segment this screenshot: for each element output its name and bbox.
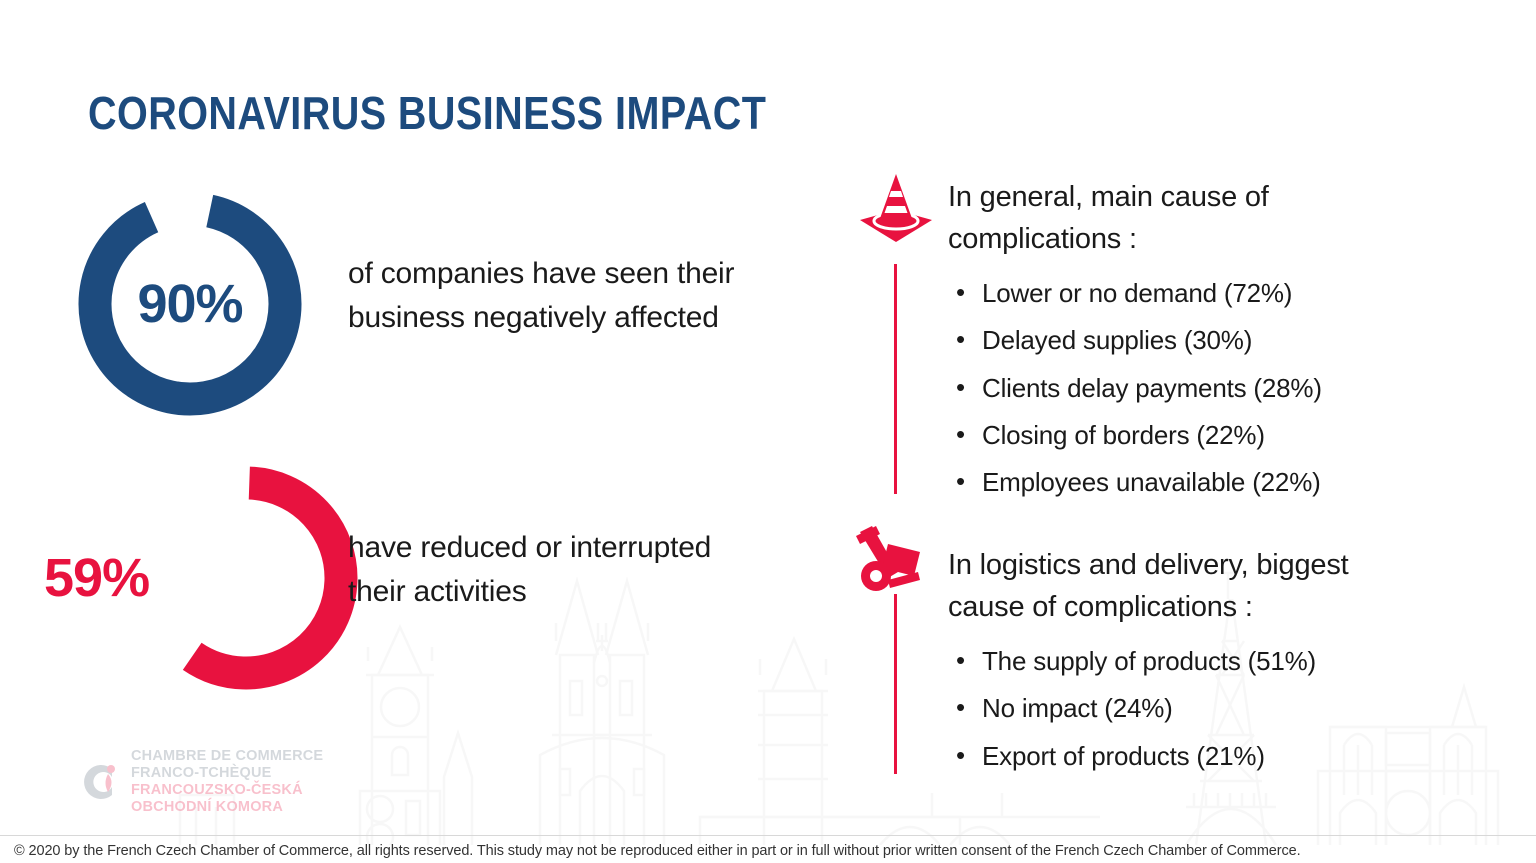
- chamber-logo: CHAMBRE DE COMMERCE FRANCO-TCHÈQUE FRANC…: [78, 748, 323, 816]
- list-item: The supply of products (51%): [952, 644, 1492, 678]
- section-logistics-heading-line1: In logistics and delivery, biggest: [948, 544, 1508, 586]
- list-item: Delayed supplies (30%): [952, 323, 1492, 357]
- hand-truck-icon: [852, 522, 932, 602]
- logo-mark-icon: [78, 760, 122, 804]
- logo-line-4: OBCHODNÍ KOMORA: [131, 799, 323, 816]
- page-title: CORONAVIRUS BUSINESS IMPACT: [88, 86, 766, 140]
- footer-divider: [0, 835, 1536, 836]
- stat-block-90: 90% of companies have seen their busines…: [72, 186, 812, 436]
- infographic-slide: CORONAVIRUS BUSINESS IMPACT 90% of compa…: [0, 0, 1536, 863]
- section-logistics-vertical-rule: [894, 594, 897, 774]
- donut-chart-59: 59%: [128, 460, 364, 696]
- donut-59-value: 59%: [36, 460, 272, 696]
- section-general-heading: In general, main cause of complications …: [948, 176, 1468, 260]
- stat-90-line1: of companies have seen their: [348, 252, 818, 296]
- logo-line-3: FRANCOUZSKO-ČESKÁ: [131, 782, 323, 799]
- section-general-causes: In general, main cause of complications …: [856, 168, 1506, 508]
- stat-90-line2: business negatively affected: [348, 296, 818, 340]
- list-item: Employees unavailable (22%): [952, 465, 1492, 499]
- donut-chart-90: 90%: [72, 186, 308, 422]
- stat-block-59: 59% have reduced or interrupted their ac…: [128, 460, 828, 710]
- stat-59-line1: have reduced or interrupted: [348, 526, 818, 570]
- list-item: Clients delay payments (28%): [952, 371, 1492, 405]
- section-logistics-heading: In logistics and delivery, biggest cause…: [948, 544, 1508, 628]
- stat-59-line2: their activities: [348, 570, 818, 614]
- section-logistics-heading-line2: cause of complications :: [948, 586, 1508, 628]
- logo-line-1: CHAMBRE DE COMMERCE: [131, 748, 323, 765]
- logo-line-2: FRANCO-TCHÈQUE: [131, 765, 323, 782]
- logo-text: CHAMBRE DE COMMERCE FRANCO-TCHÈQUE FRANC…: [131, 748, 323, 816]
- section-general-heading-line2: complications :: [948, 218, 1468, 260]
- section-general-list: Lower or no demand (72%) Delayed supplie…: [952, 276, 1492, 513]
- traffic-cone-icon: [856, 168, 936, 248]
- section-general-vertical-rule: [894, 264, 897, 494]
- list-item: Closing of borders (22%): [952, 418, 1492, 452]
- section-logistics-list: The supply of products (51%) No impact (…: [952, 644, 1492, 786]
- stat-90-description: of companies have seen their business ne…: [348, 252, 818, 341]
- footer-copyright: © 2020 by the French Czech Chamber of Co…: [14, 843, 1524, 859]
- list-item: Export of products (21%): [952, 739, 1492, 773]
- stat-59-description: have reduced or interrupted their activi…: [348, 526, 818, 615]
- list-item: No impact (24%): [952, 691, 1492, 725]
- section-general-heading-line1: In general, main cause of: [948, 176, 1468, 218]
- donut-90-value: 90%: [72, 186, 308, 422]
- list-item: Lower or no demand (72%): [952, 276, 1492, 310]
- section-logistics-causes: In logistics and delivery, biggest cause…: [852, 522, 1502, 792]
